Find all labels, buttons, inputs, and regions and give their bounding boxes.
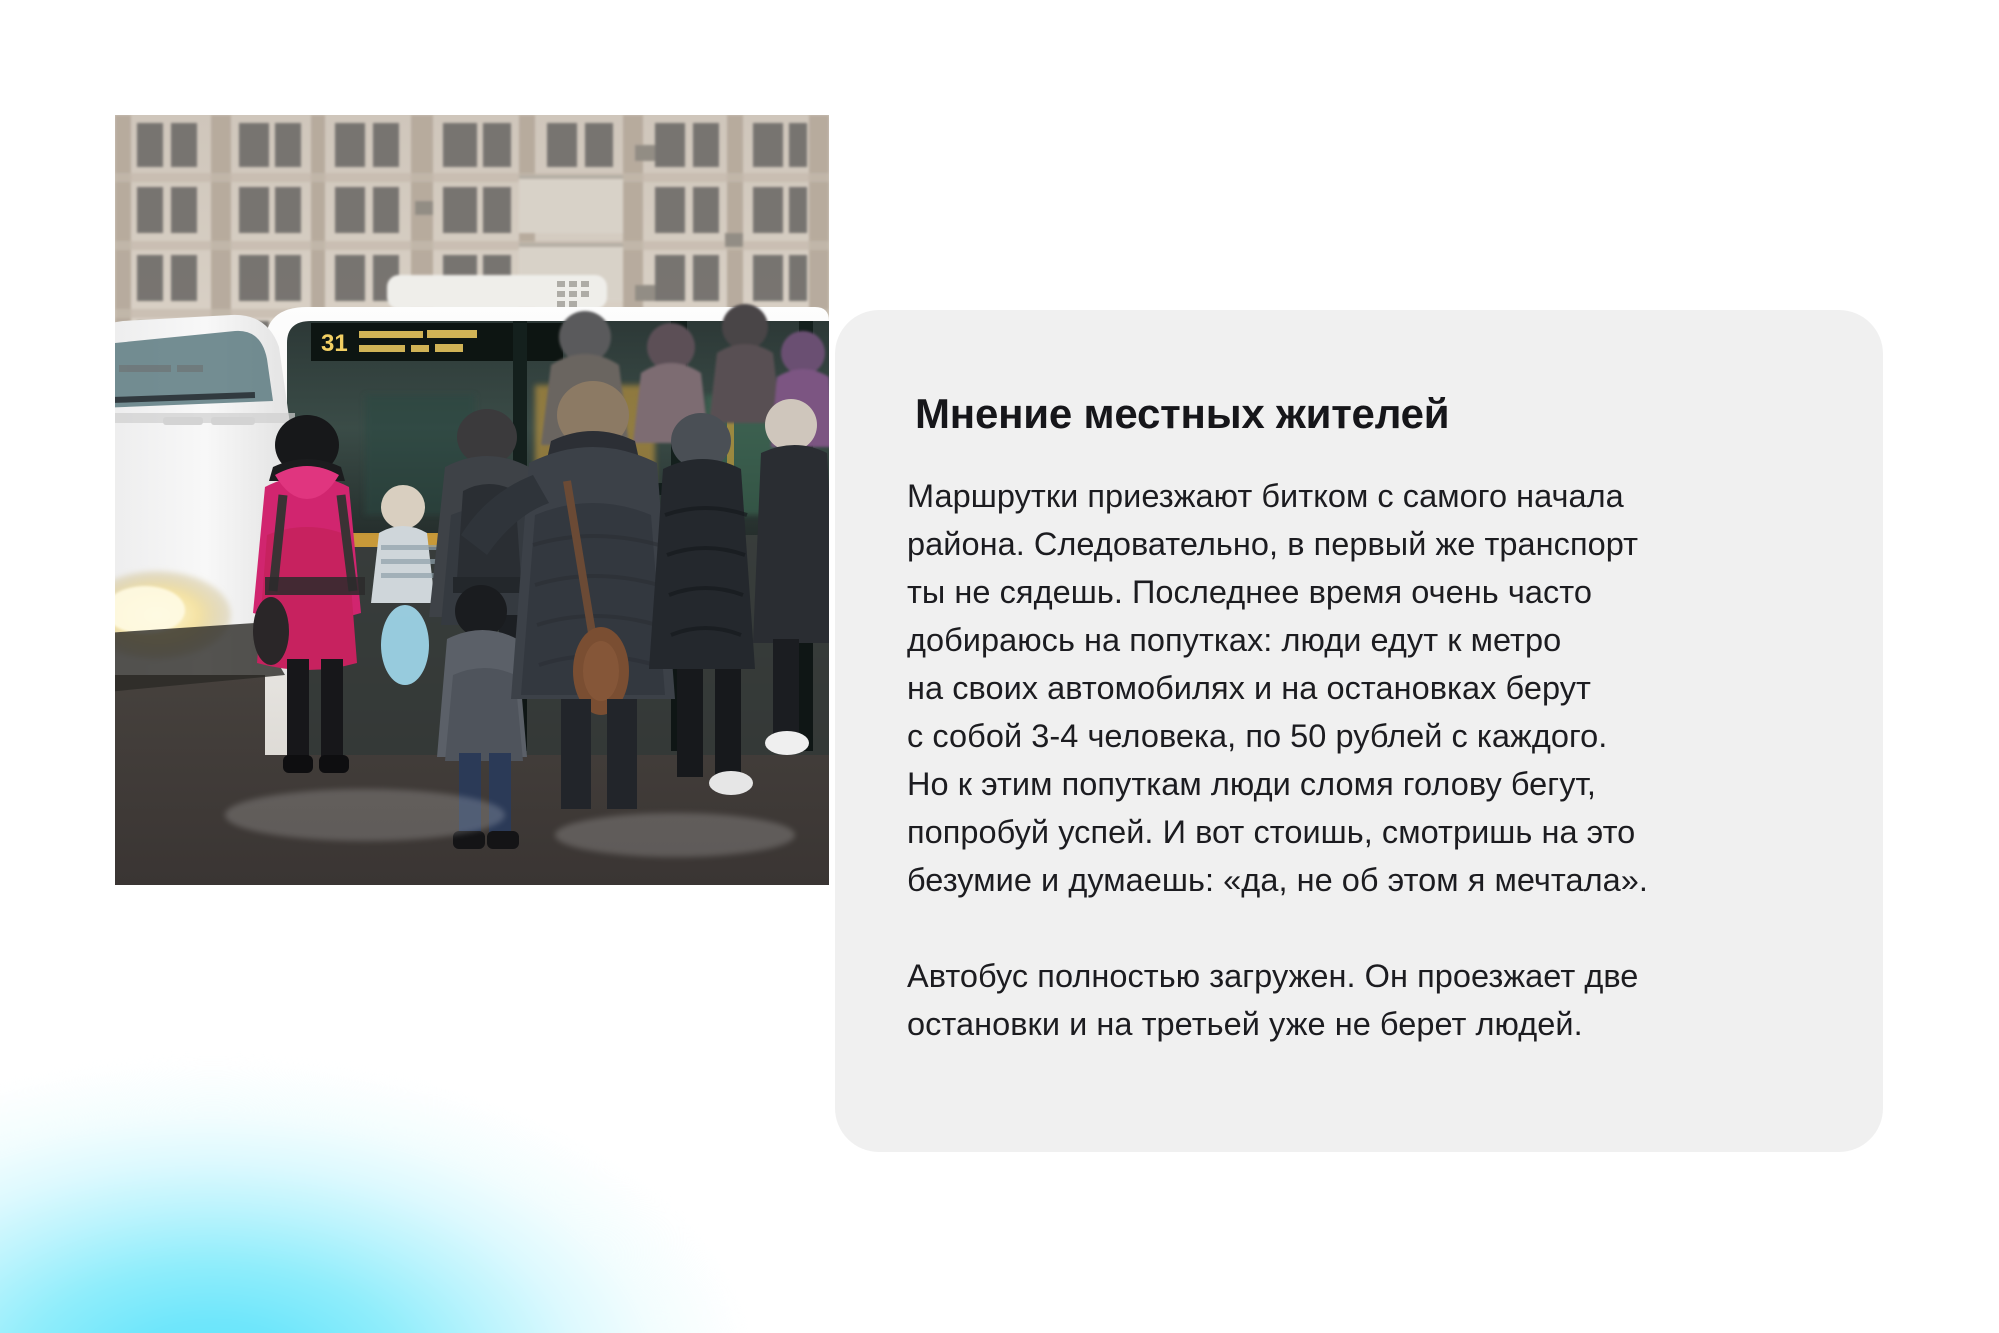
card-body: Маршрутки приезжают битком с самого нача… [907, 472, 1837, 1048]
svg-text:31: 31 [321, 330, 348, 357]
body-line: на своих автомобилях и на остановках бер… [907, 664, 1837, 712]
slide-canvas: 31 [0, 0, 1999, 1333]
body-line: с собой 3-4 человека, по 50 рублей с каж… [907, 712, 1837, 760]
residents-opinion-card: Мнение местных жителей Маршрутки приезжа… [835, 310, 1883, 1152]
paragraph-1: Маршрутки приезжают битком с самого нача… [907, 472, 1837, 904]
body-line: Маршрутки приезжают битком с самого нача… [907, 472, 1837, 520]
body-line: попробуй успей. И вот стоишь, смотришь н… [907, 808, 1837, 856]
body-line: Автобус полностью загружен. Он проезжает… [907, 952, 1837, 1000]
card-title: Мнение местных жителей [915, 390, 1449, 438]
body-line: ты не сядешь. Последнее время очень част… [907, 568, 1837, 616]
body-line: остановки и на третьей уже не берет люде… [907, 1000, 1837, 1048]
body-line: добираюсь на попутках: люди едут к метро [907, 616, 1837, 664]
body-line: района. Следовательно, в первый же транс… [907, 520, 1837, 568]
body-line: безумие и думаешь: «да, не об этом я меч… [907, 856, 1837, 904]
street-photo: 31 [115, 115, 829, 885]
body-line: Но к этим попуткам люди сломя голову бег… [907, 760, 1837, 808]
street-photo-illustration: 31 [115, 115, 829, 885]
paragraph-2: Автобус полностью загружен. Он проезжает… [907, 952, 1837, 1048]
